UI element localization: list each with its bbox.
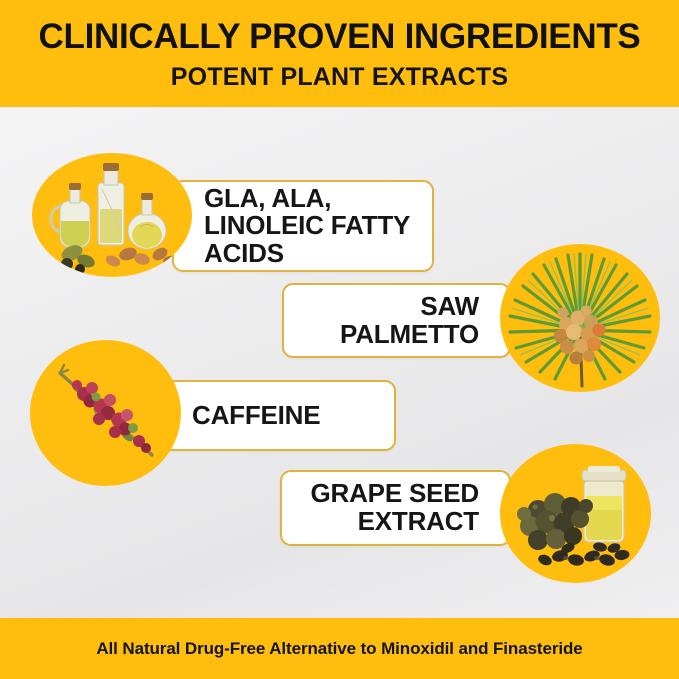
coffee-branch-icon (30, 340, 181, 486)
label-line: EXTRACT (311, 508, 480, 536)
ingredient-label-grape-seed-extract: GRAPE SEED EXTRACT (280, 470, 511, 546)
label-line: SAW (340, 293, 479, 321)
ingredient-label-text: GRAPE SEED EXTRACT (311, 480, 480, 535)
oil-bottles-icon (32, 153, 192, 277)
grapes-oil-bottle-icon (500, 444, 651, 583)
ingredient-label-gla-ala-linoleic: GLA, ALA, LINOLEIC FATTY ACIDS (172, 180, 434, 272)
footer-tagline: All Natural Drug-Free Alternative to Min… (96, 639, 582, 659)
ingredient-label-caffeine: CAFFEINE (160, 380, 396, 451)
ingredient-label-text: SAW PALMETTO (340, 293, 479, 348)
ingredient-label-text: GLA, ALA, LINOLEIC FATTY ACIDS (204, 185, 410, 268)
label-line: LINOLEIC FATTY (204, 212, 410, 240)
label-line: CAFFEINE (192, 402, 320, 430)
ingredient-label-text: CAFFEINE (192, 402, 320, 430)
ingredient-label-saw-palmetto: SAW PALMETTO (282, 283, 511, 358)
page-title: CLINICALLY PROVEN INGREDIENTS (39, 19, 641, 56)
page-subtitle: POTENT PLANT EXTRACTS (171, 62, 509, 92)
footer-banner: All Natural Drug-Free Alternative to Min… (0, 618, 679, 679)
label-line: ACIDS (204, 240, 410, 268)
label-line: GRAPE SEED (311, 480, 480, 508)
label-line: PALMETTO (340, 321, 479, 349)
palm-frond-berries-icon (500, 244, 660, 392)
ingredients-infographic: CLINICALLY PROVEN INGREDIENTS POTENT PLA… (0, 0, 679, 679)
header-banner: CLINICALLY PROVEN INGREDIENTS POTENT PLA… (0, 0, 679, 107)
label-line: GLA, ALA, (204, 185, 410, 213)
